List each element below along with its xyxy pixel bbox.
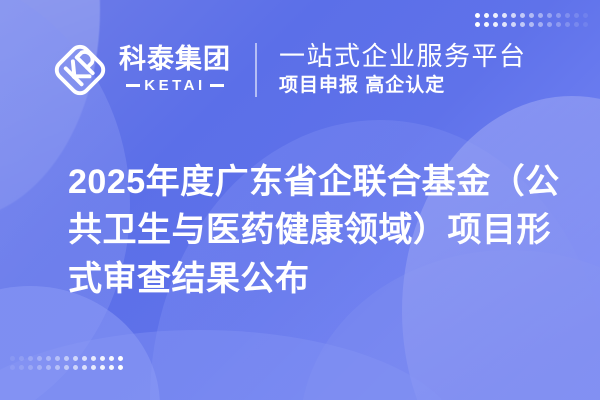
dot-grid-bottom-left: [10, 356, 123, 370]
decor-dot: [100, 365, 105, 370]
decor-dot: [28, 356, 33, 361]
ketai-logo-icon: [52, 42, 108, 98]
decor-dot: [73, 365, 78, 370]
decor-dot: [19, 365, 24, 370]
dot-row: [10, 356, 123, 361]
brand-text: 科泰集团 KETAI: [119, 45, 231, 94]
decor-dot: [10, 365, 15, 370]
decor-dot: [82, 356, 87, 361]
decor-dot: [55, 365, 60, 370]
slogan-block: 一站式企业服务平台 项目申报 高企认定: [279, 41, 527, 99]
decor-dot: [100, 356, 105, 361]
slogan-main: 一站式企业服务平台: [279, 41, 527, 72]
brand-name-en: KETAI: [144, 77, 205, 95]
decor-dot: [37, 365, 42, 370]
dot-row: [10, 365, 123, 370]
decor-dot: [28, 365, 33, 370]
decor-blob-bottom-left: [0, 286, 160, 400]
brand-rule-right: [210, 84, 224, 87]
decor-dot: [109, 365, 114, 370]
decor-dot: [109, 356, 114, 361]
brand-name-en-row: KETAI: [119, 77, 231, 95]
decor-dot: [64, 365, 69, 370]
decor-dot: [46, 365, 51, 370]
decor-dot: [55, 356, 60, 361]
decor-dot: [91, 365, 96, 370]
banner-image: 科泰集团 KETAI 一站式企业服务平台 项目申报 高企认定 2025年度广东省…: [0, 0, 600, 400]
decor-dot: [73, 356, 78, 361]
banner-header: 科泰集团 KETAI 一站式企业服务平台 项目申报 高企认定: [0, 0, 600, 140]
brand-slogan-divider: [255, 43, 257, 97]
decor-dot: [19, 356, 24, 361]
page-title: 2025年度广东省企联合基金（公共卫生与医药健康领域）项目形式审查结果公布: [68, 158, 560, 303]
decor-dot: [118, 356, 123, 361]
decor-dot: [46, 356, 51, 361]
decor-dot: [37, 356, 42, 361]
brand-rule-left: [126, 84, 140, 87]
brand-name-cn: 科泰集团: [119, 45, 231, 73]
decor-dot: [64, 356, 69, 361]
brand-lockup: 科泰集团 KETAI: [52, 42, 231, 98]
slogan-sub: 项目申报 高企认定: [279, 74, 527, 99]
decor-dot: [91, 356, 96, 361]
decor-dot: [82, 365, 87, 370]
decor-dot: [118, 365, 123, 370]
decor-dot: [10, 356, 15, 361]
